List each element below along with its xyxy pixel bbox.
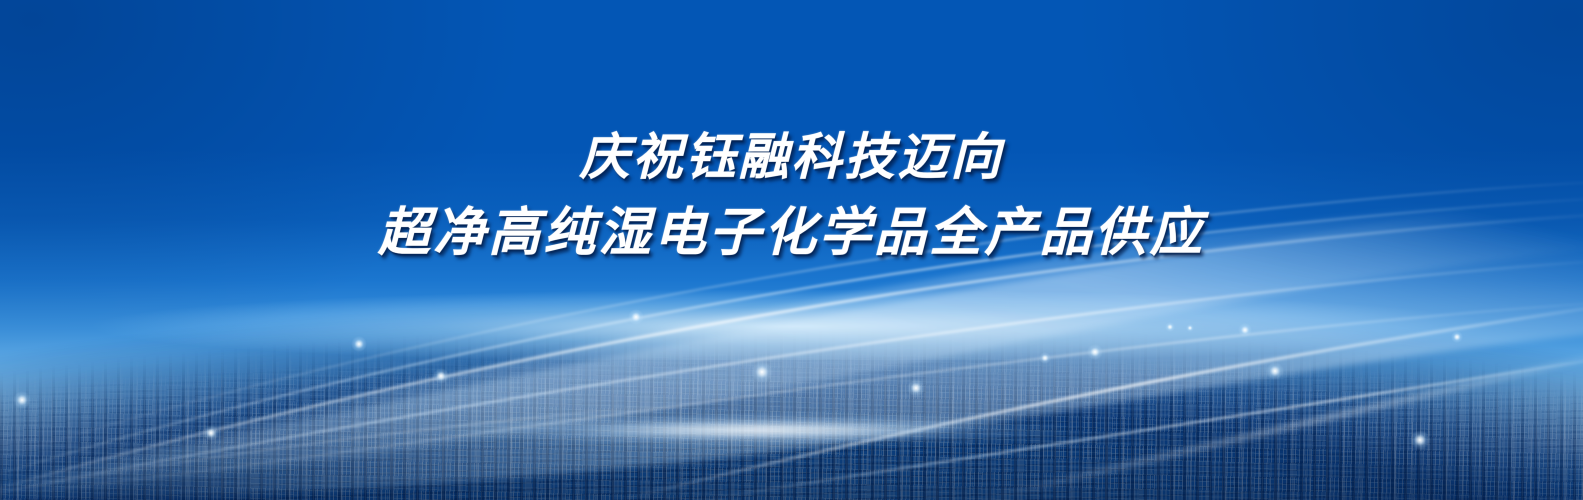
corporate-hero-banner: 庆祝钰融科技迈向 超净高纯湿电子化学品全产品供应 (0, 0, 1583, 500)
glow-orb-right-high (1238, 323, 1252, 337)
glow-orb-right-mid (1087, 344, 1103, 360)
glow-orb-center (751, 361, 773, 383)
glow-orb-left-lower (433, 368, 449, 384)
glow-orb-right-low (907, 379, 925, 397)
glow-orb-far-right (1410, 430, 1430, 450)
glow-orb-left-mid (628, 309, 644, 325)
glow-orb-tiny-right (1186, 324, 1194, 332)
glow-orb-left-far (203, 425, 219, 441)
glow-orb-right-outer (1266, 362, 1284, 380)
light-ribbon-artwork (0, 0, 1583, 500)
glow-orb-left-upper (351, 336, 367, 352)
glow-orb-edge-right (1451, 331, 1463, 343)
glow-orb-edge-left (13, 391, 31, 409)
glow-orb-small-right (1165, 322, 1175, 332)
horizon-flare-band (440, 414, 1080, 446)
glow-orb-mid-right (1039, 352, 1051, 364)
